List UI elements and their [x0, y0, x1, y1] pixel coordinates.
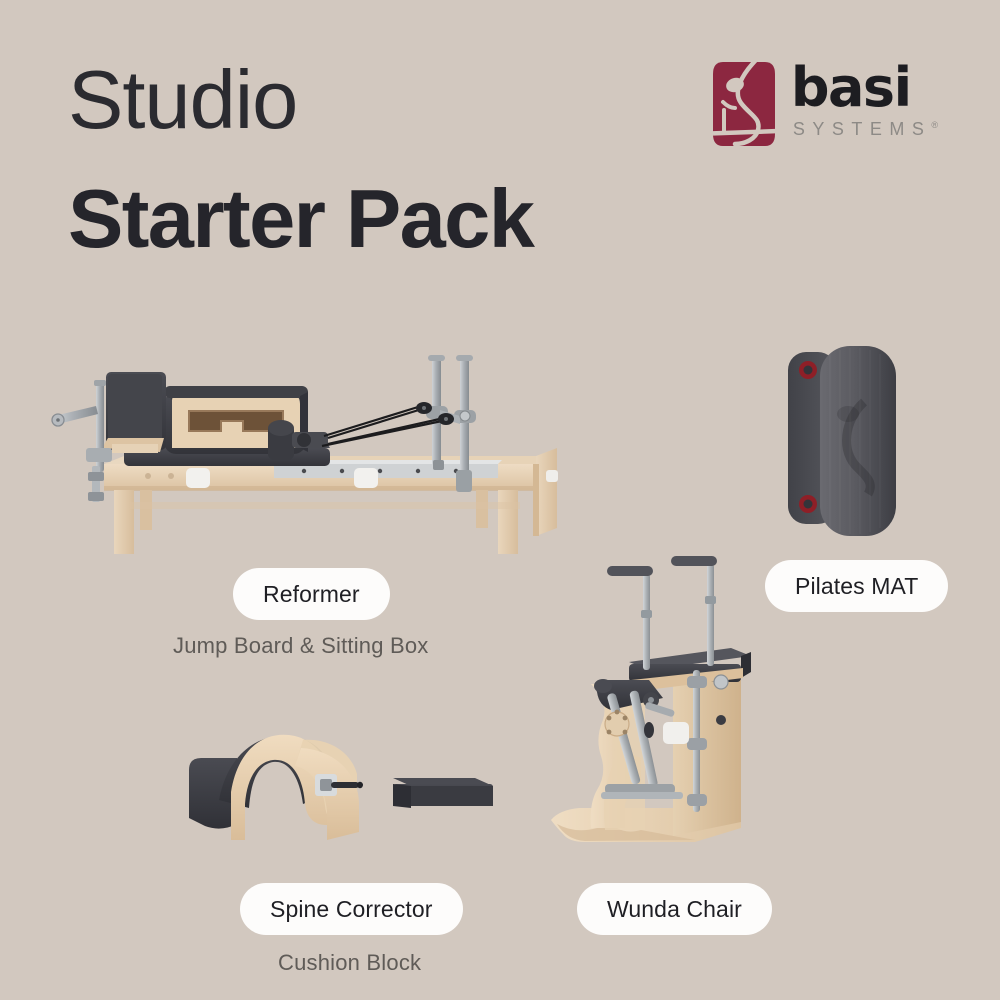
reformer-spring-tab-2	[354, 468, 378, 488]
product-image-pilates-mat	[782, 342, 904, 542]
mat-grommet-top	[799, 361, 817, 379]
reformer-right-end	[536, 448, 557, 536]
label-spine-corrector[interactable]: Spine Corrector	[240, 883, 463, 935]
product-image-reformer	[36, 352, 616, 560]
reformer-spring-tab-3	[546, 470, 558, 482]
pilates-mat-illustration	[782, 342, 904, 542]
label-reformer[interactable]: Reformer	[233, 568, 390, 620]
cushion-block	[393, 778, 493, 808]
product-image-spine-corrector	[175, 708, 505, 848]
brand-logo: basi SYSTEMS®	[711, 58, 938, 150]
mat-grommet-bottom	[799, 495, 817, 513]
spine-corrector-illustration	[175, 708, 505, 848]
headline-line-1: Studio	[68, 58, 708, 143]
registered-trademark-icon: ®	[931, 120, 938, 130]
wunda-chair-knob	[714, 675, 728, 689]
wunda-chair-side-panel-right	[673, 670, 741, 836]
wunda-chair-handle-left	[607, 566, 653, 670]
reformer-leg-front-left	[114, 490, 134, 554]
poster-canvas: Studio Starter Pack	[0, 0, 1000, 1000]
label-pilates-mat[interactable]: Pilates MAT	[765, 560, 948, 612]
reformer-footbar-assembly	[52, 380, 112, 502]
brand-subtitle-text: SYSTEMS	[793, 119, 932, 139]
mat-roll	[820, 346, 896, 536]
page-title: Studio Starter Pack	[68, 58, 708, 261]
reformer-leg-front-right	[498, 490, 518, 554]
label-wunda-chair[interactable]: Wunda Chair	[577, 883, 772, 935]
wunda-chair-handle-right	[671, 556, 717, 666]
brand-wordmark-group: basi SYSTEMS®	[791, 58, 938, 140]
wunda-chair-spring-cover	[663, 722, 689, 744]
brand-wordmark: basi	[791, 62, 938, 113]
caption-spine-corrector: Cushion Block	[278, 950, 421, 976]
brand-subtitle: SYSTEMS®	[793, 119, 938, 140]
wunda-chair-illustration	[545, 552, 775, 872]
reformer-jump-board	[102, 372, 166, 453]
product-image-wunda-chair	[545, 552, 775, 872]
headline-line-2: Starter Pack	[68, 177, 708, 262]
caption-reformer: Jump Board & Sitting Box	[173, 633, 428, 659]
reformer-illustration	[36, 352, 616, 560]
reformer-spring-tab-1	[186, 468, 210, 488]
spine-corrector-handle-bar	[331, 782, 359, 788]
basi-figure-icon	[711, 58, 777, 150]
